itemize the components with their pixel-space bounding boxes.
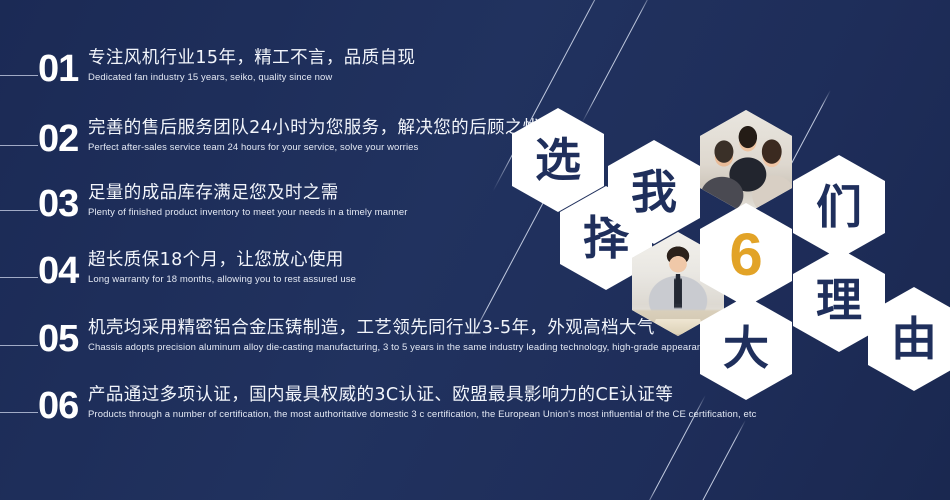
business-team-meeting-photo bbox=[700, 110, 792, 214]
hex-cell-team-photo bbox=[700, 110, 792, 214]
hex-glyph: 们 bbox=[816, 184, 862, 230]
promo-banner: 01 专注风机行业15年，精工不言，品质自现 Dedicated fan ind… bbox=[0, 0, 950, 500]
hex-glyph-number-six: 6 bbox=[729, 225, 762, 285]
hex-glyph: 我 bbox=[631, 169, 677, 215]
necktie-shape bbox=[675, 274, 682, 304]
hex-cell-men: 们 bbox=[793, 155, 885, 259]
hex-glyph: 选 bbox=[535, 137, 581, 183]
hex-glyph: 理 bbox=[816, 277, 862, 323]
hex-glyph: 大 bbox=[723, 325, 769, 371]
hex-glyph: 由 bbox=[891, 316, 937, 362]
laptop-shape bbox=[649, 319, 707, 334]
